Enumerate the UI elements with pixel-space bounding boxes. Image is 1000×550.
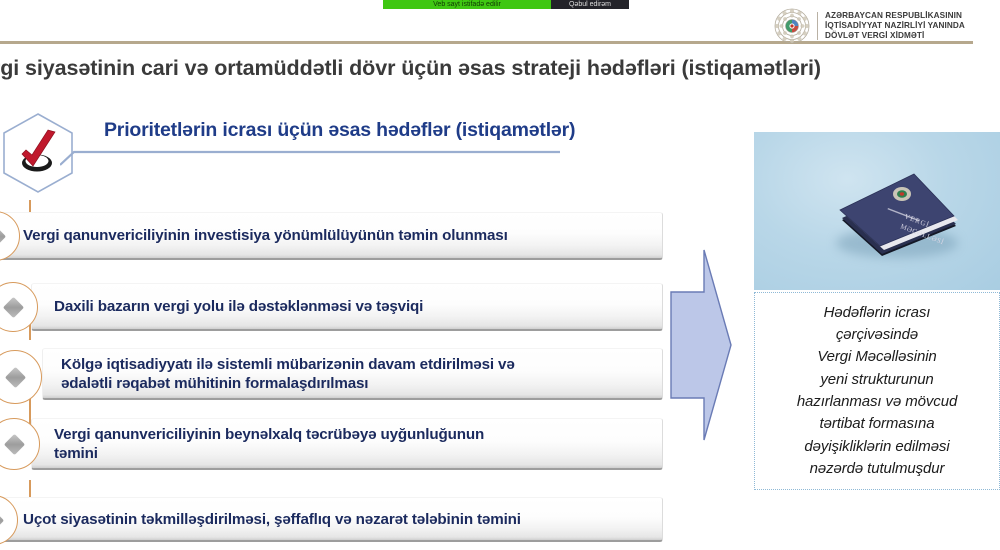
organization-name: AZƏRBAYCAN RESPUBLİKASININ İQTİSADİYYAT … [825, 11, 965, 42]
goal-line: təmini [54, 444, 484, 463]
goal-bar-3[interactable]: Kölgə iqtisadiyyatı ilə sistemli mübariz… [42, 348, 663, 400]
diamond-glyph [0, 225, 6, 246]
goal-label-4: Vergi qanunvericiliyinin beynəlxalq təcr… [54, 425, 484, 463]
tax-code-book-photo: VERGİ MƏCƏLLƏSİ [754, 132, 1000, 290]
subtitle-underline [60, 150, 560, 166]
book-illustration: VERGİ MƏCƏLLƏSİ [838, 168, 962, 260]
right-arrow-shape [668, 247, 734, 443]
organization-line-3: DÖVLƏT VERGİ XİDMƏTİ [825, 31, 965, 41]
diamond-glyph [2, 296, 23, 317]
note-line: hazırlanması və mövcud [797, 391, 957, 413]
diamond-glyph [3, 433, 24, 454]
goal-line: Uçot siyasətinin təkmilləşdirilməsi, şəf… [23, 510, 521, 529]
note-line: nəzərdə tutulmuşdur [797, 458, 957, 480]
note-text: Hədəflərin icrası çərçivəsində Vergi Məc… [791, 302, 963, 480]
note-line: tərtibat formasına [797, 413, 957, 435]
note-line: dəyişikliklərin edilməsi [797, 436, 957, 458]
goal-label-3: Kölgə iqtisadiyyatı ilə sistemli mübariz… [61, 355, 515, 393]
organization-line-2: İQTİSADİYYAT NAZİRLİYİ YANINDA [825, 21, 965, 31]
note-line: çərçivəsində [797, 324, 957, 346]
goal-bar-4[interactable]: Vergi qanunvericiliyinin beynəlxalq təcr… [31, 418, 663, 470]
note-line: Hədəflərin icrası [797, 302, 957, 324]
goal-line: Daxili bazarın vergi yolu ilə dəstəklənm… [54, 297, 423, 316]
note-line: yeni strukturunun [797, 369, 957, 391]
goal-line: Vergi qanunvericiliyinin investisiya yön… [23, 226, 508, 245]
note-box: Hədəflərin icrası çərçivəsində Vergi Məc… [754, 292, 1000, 490]
goal-bar-1[interactable]: Vergi qanunvericiliyinin investisiya yön… [0, 212, 663, 260]
goal-line: Vergi qanunvericiliyinin beynəlxalq təcr… [54, 425, 484, 444]
goal-line: ədalətli rəqabət mühitinin formalaşdırıl… [61, 374, 515, 393]
azerbaijan-state-emblem-icon [774, 8, 810, 44]
organization-line-1: AZƏRBAYCAN RESPUBLİKASININ [825, 11, 965, 21]
organization-brand: AZƏRBAYCAN RESPUBLİKASININ İQTİSADİYYAT … [774, 8, 1000, 44]
slide-title: rgi siyasətinin cari və ortamüddətli döv… [0, 56, 1000, 81]
goal-label-2: Daxili bazarın vergi yolu ilə dəstəklənm… [54, 297, 423, 316]
diamond-glyph [4, 366, 25, 387]
goal-bar-2[interactable]: Daxili bazarın vergi yolu ilə dəstəklənm… [31, 283, 663, 331]
goal-bar-5[interactable]: Uçot siyasətinin təkmilləşdirilməsi, şəf… [0, 497, 663, 542]
cookie-accept-button[interactable]: Qəbul edirəm [551, 0, 629, 9]
goal-label-5: Uçot siyasətinin təkmilləşdirilməsi, şəf… [23, 510, 521, 529]
goal-label-1: Vergi qanunvericiliyinin investisiya yön… [23, 226, 508, 245]
diamond-glyph [0, 509, 4, 530]
note-line: Vergi Məcəlləsinin [797, 346, 957, 368]
brand-separator [817, 12, 818, 40]
cookie-banner: Veb sayt istifadə edilir [383, 0, 551, 9]
goal-line: Kölgə iqtisadiyyatı ilə sistemli mübariz… [61, 355, 515, 374]
section-subtitle: Prioritetlərin icrası üçün əsas hədəflər… [104, 119, 575, 142]
